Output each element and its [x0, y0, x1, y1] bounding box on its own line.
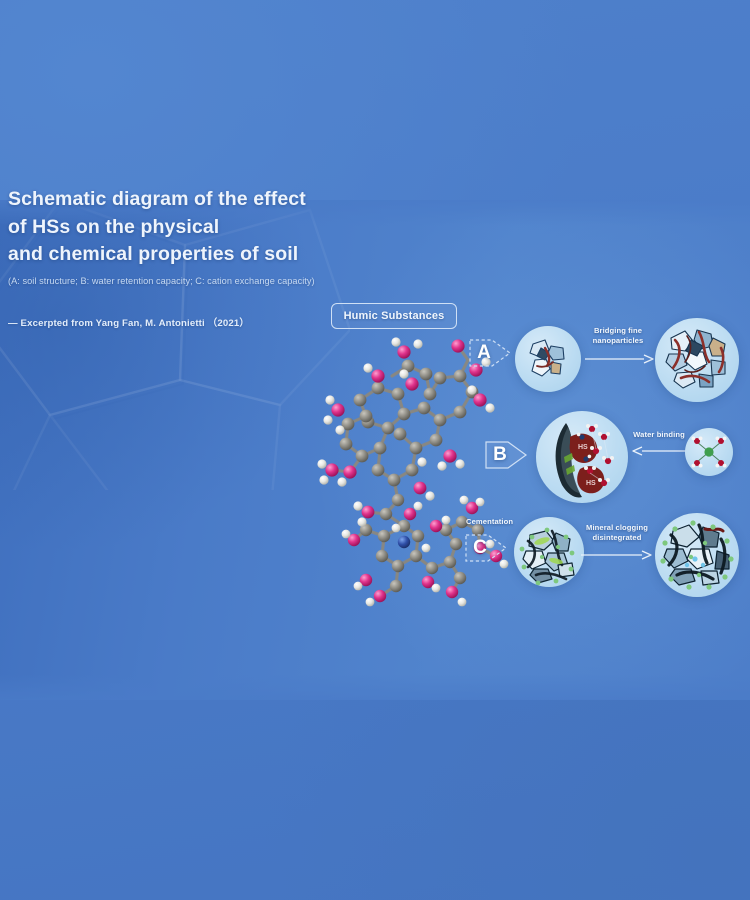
panel-c-flow-label-line-2: disintegrated	[576, 533, 658, 543]
panel-c-flow-label: Mineral clogging disintegrated	[576, 523, 658, 542]
title-line-2: of HSs on the physical	[8, 214, 338, 242]
cemented-mineral-aggregate	[514, 517, 584, 587]
panel-marker-a-letter: A	[468, 332, 500, 374]
humic-water-retention: HS HS	[536, 411, 628, 503]
title-line-1: Schematic diagram of the effect	[8, 186, 338, 214]
panel-a-flow-label: Bridging fine nanoparticles	[580, 326, 656, 345]
panel-b-flow-label-line-1: Water binding	[628, 430, 690, 440]
panel-c-flow-label-line-1: Mineral clogging	[576, 523, 658, 533]
soil-aggregate-loose	[515, 326, 581, 392]
band-bottom-fade	[0, 674, 750, 700]
panel-a-flow-label-line-2: nanoparticles	[580, 336, 656, 346]
svg-text:HS: HS	[578, 444, 588, 451]
svg-text:HS: HS	[586, 480, 596, 487]
disintegrated-mineral-aggregate	[655, 513, 739, 597]
panel-b-arrow-left-icon	[632, 445, 688, 457]
panel-a-arrow-right-icon	[584, 353, 654, 365]
water-molecule-cluster	[685, 428, 733, 476]
panel-b-flow-label: Water binding	[628, 430, 690, 440]
humic-substances-label: Humic Substances	[331, 303, 457, 329]
page-title: Schematic diagram of the effect of HSs o…	[8, 186, 338, 269]
panel-c-arrow-right-icon	[580, 549, 652, 561]
source-attribution: — Excerpted from Yang Fan, M. Antonietti…	[8, 315, 338, 329]
title-line-3: and chemical properties of soil	[8, 241, 338, 269]
panel-marker-c-letter: C	[464, 527, 496, 569]
soil-aggregate-bridged	[655, 318, 739, 402]
nitrogen-atoms	[398, 536, 410, 548]
panel-a-flow-label-line-1: Bridging fine	[580, 326, 656, 336]
panel-marker-b-letter: B	[484, 434, 516, 476]
title-block: Schematic diagram of the effect of HSs o…	[8, 186, 338, 329]
carbon-atoms	[340, 360, 485, 593]
humic-substances-label-text: Humic Substances	[344, 310, 445, 322]
slide-canvas: Schematic diagram of the effect of HSs o…	[0, 0, 750, 900]
subtitle-legend: (A: soil structure; B: water retention c…	[8, 275, 338, 287]
panel-c-pre-label: Cementation	[466, 517, 513, 526]
